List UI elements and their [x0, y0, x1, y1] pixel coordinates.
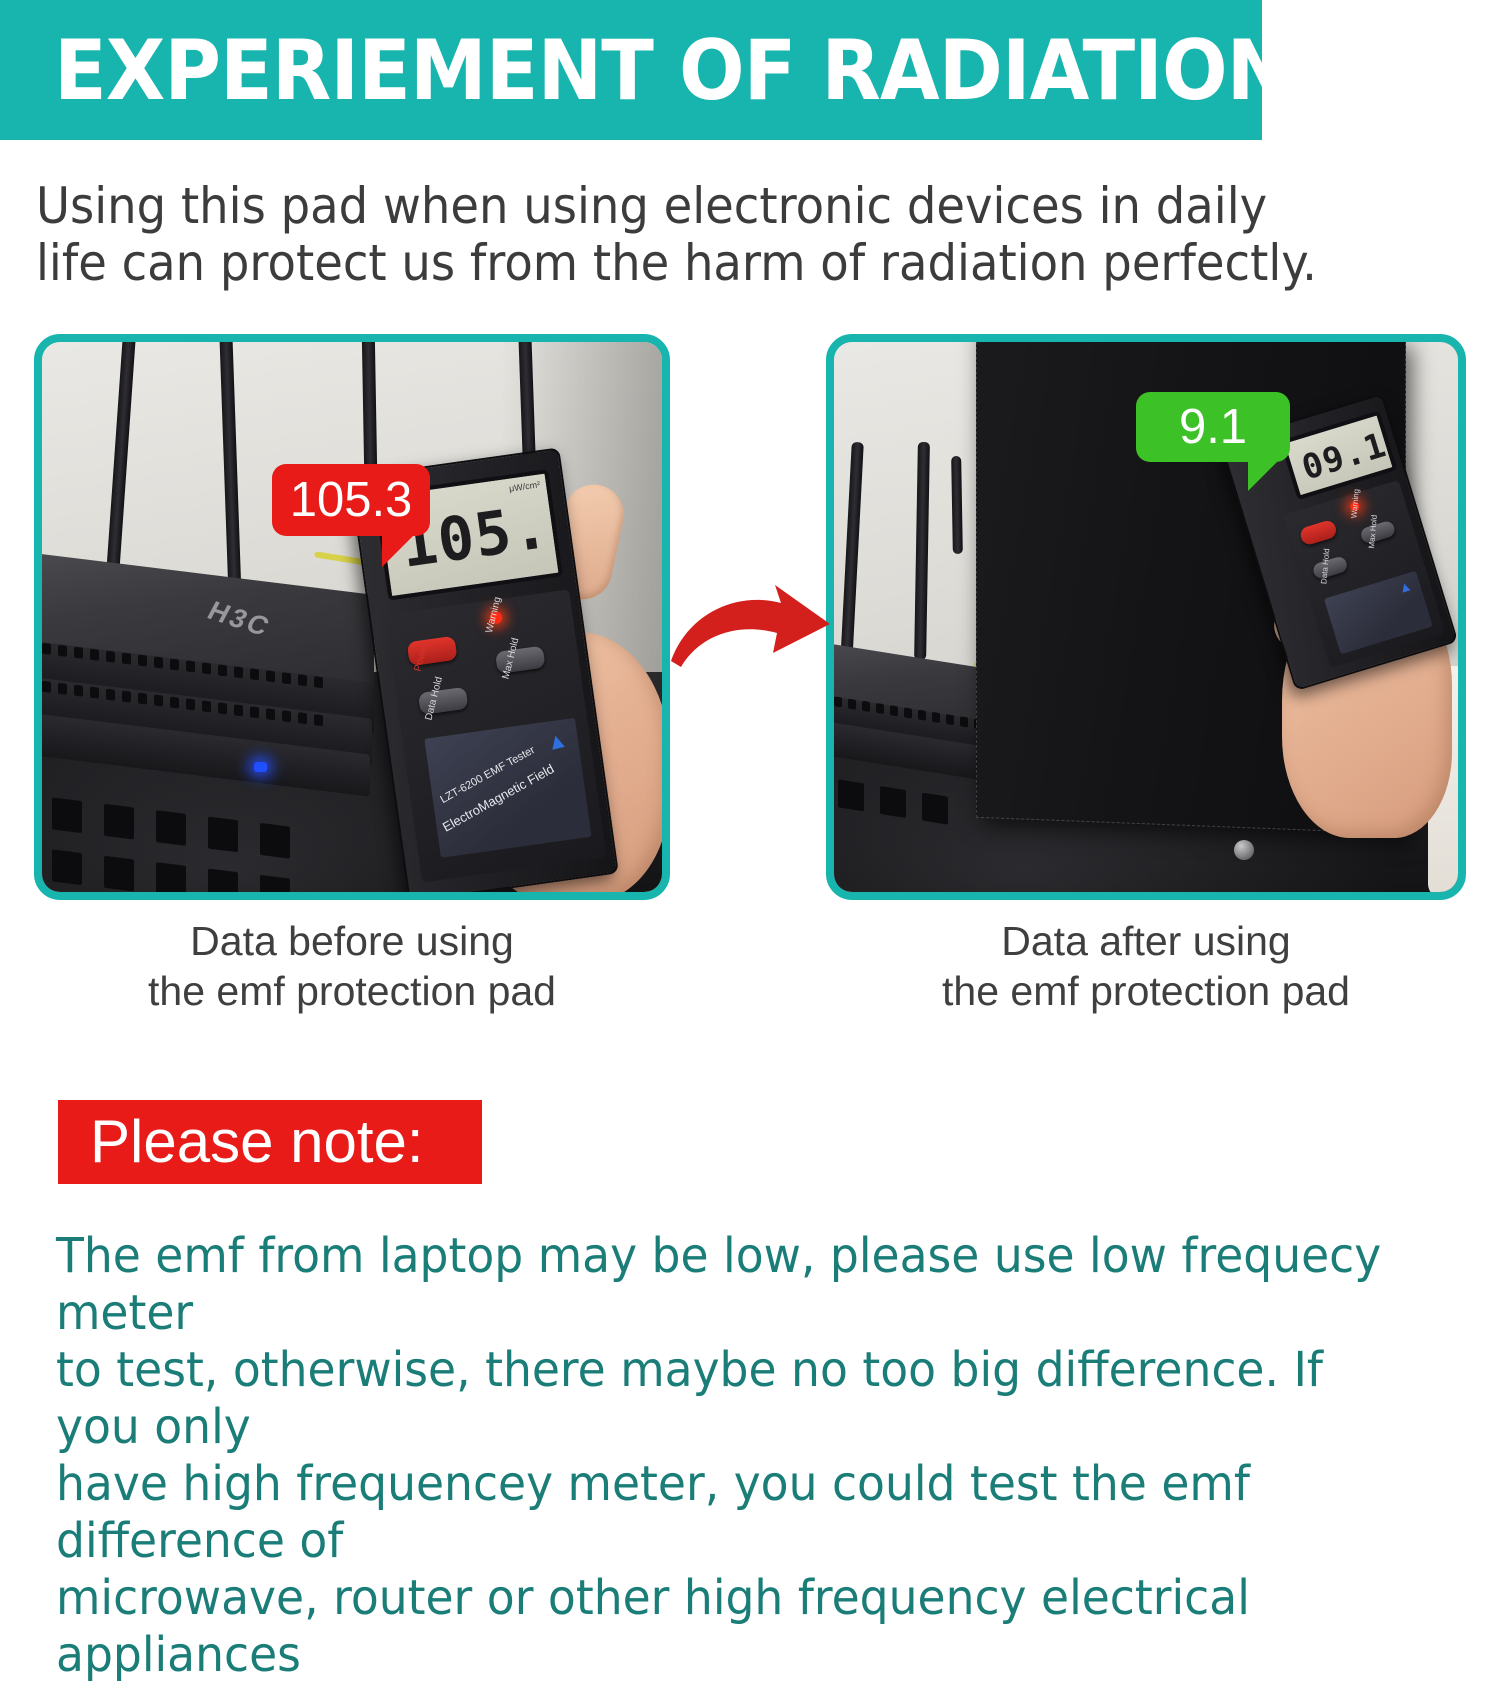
meter-brand-mark: ▲ — [543, 726, 570, 756]
please-note-body: The emf from laptop may be low, please u… — [56, 1228, 1386, 1684]
router-antenna — [951, 456, 963, 554]
warning-label: Warning — [1349, 489, 1361, 519]
meter-model-plate: ▲ — [1324, 571, 1433, 655]
page-title: EXPERIEMENT OF RADIATION — [54, 22, 1290, 119]
desk-screw — [1234, 840, 1254, 860]
please-note-label: Please note: — [90, 1112, 424, 1172]
data-hold-label: Data Hold — [1319, 548, 1331, 584]
photo-panel-before: H3C — [34, 334, 670, 900]
transition-arrow-icon — [665, 575, 835, 675]
lcd-reading: 09.1 — [1297, 425, 1391, 488]
please-note-banner: Please note: — [58, 1100, 482, 1184]
power-button[interactable] — [1299, 519, 1339, 547]
meter-brand-mark: ▲ — [1396, 577, 1414, 596]
max-hold-label: Max Hold — [1367, 514, 1379, 548]
badge-tail-after — [1248, 459, 1280, 491]
meter-model-plate: ▲ LZT-6200 EMF Tester ElectroMagnetic Fi… — [424, 718, 591, 858]
header-banner: EXPERIEMENT OF RADIATION — [0, 0, 1262, 140]
subtitle-text: Using this pad when using electronic dev… — [36, 178, 1338, 292]
lcd-unit-label: μW/cm² — [508, 479, 540, 493]
caption-after: Data after using the emf protection pad — [826, 916, 1466, 1016]
badge-tail-before — [382, 533, 416, 567]
meter-control-panel: Warning Power Max Hold Data Hold ▲ LZT-6… — [385, 589, 607, 882]
scene-before: H3C — [42, 342, 662, 892]
value-badge-after: 9.1 — [1136, 392, 1290, 462]
caption-before: Data before using the emf protection pad — [34, 916, 670, 1016]
router-status-led — [254, 762, 267, 772]
value-badge-before: 105.3 — [272, 464, 430, 536]
